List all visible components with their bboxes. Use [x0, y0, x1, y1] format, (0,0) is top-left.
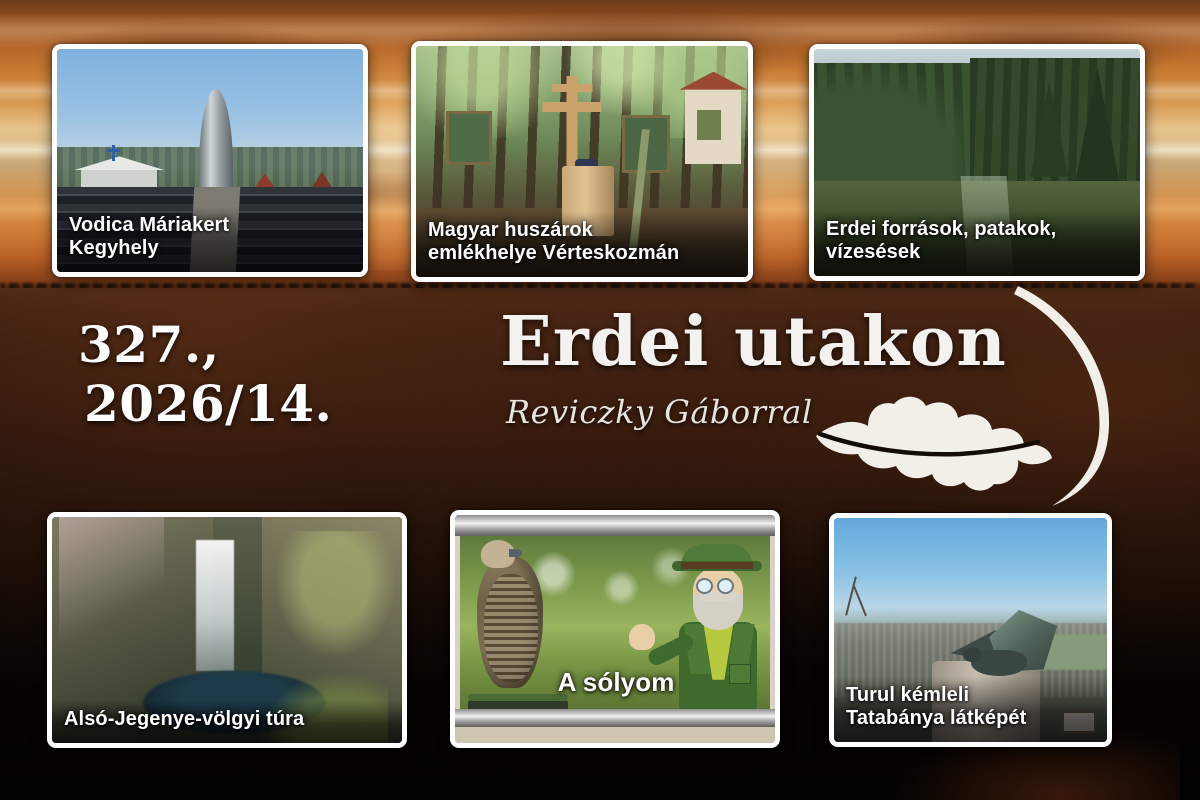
photo-tile-solyom[interactable]: A sólyom [450, 510, 780, 748]
program-subtitle: Reviczky Gáborral [506, 393, 813, 431]
photo-tile-forrasok[interactable]: Erdei források, patakok, vízesések [809, 44, 1145, 281]
photo-tile-huszarok[interactable]: Magyar huszárok emlékhelye Vérteskozmán [411, 41, 753, 282]
info-board-left [446, 111, 492, 165]
wooden-hut [685, 88, 741, 164]
hat-band [681, 562, 753, 569]
caption-line-1: Magyar huszárok [428, 219, 593, 241]
caption-line-2: Kegyhely [69, 237, 159, 259]
tile-caption-solyom: A sólyom [455, 659, 775, 743]
tile-inner: A sólyom [455, 515, 775, 743]
hand [629, 624, 655, 650]
program-logo: Erdei utakon Reviczky Gáborral [480, 296, 1120, 526]
tile-inner: Alsó-Jegenye-völgyi túra [52, 517, 402, 743]
bare-branch-1 [846, 577, 858, 616]
caption-line-1: Alsó-Jegenye-völgyi túra [64, 708, 304, 730]
waterfall [196, 540, 234, 671]
tile-caption-jegenye: Alsó-Jegenye-völgyi túra [52, 700, 402, 743]
bare-branch-2 [853, 586, 867, 616]
tile-inner: Erdei források, patakok, vízesések [814, 49, 1140, 276]
program-title: Erdei utakon [500, 302, 1007, 382]
caption-line-2: Tatabánya látképét [846, 707, 1026, 729]
caption-line-1: A sólyom [558, 667, 675, 697]
episode-line-1: 327., [78, 315, 408, 374]
caption-line-1: Turul kémleli [846, 684, 969, 706]
photo-tile-turul[interactable]: Turul kémleli Tatabánya látképét [829, 513, 1112, 747]
tile-inner: Magyar huszárok emlékhelye Vérteskozmán [416, 46, 748, 277]
bird-head [963, 648, 981, 662]
oak-leaf-icon [810, 392, 1070, 492]
broadcast-title-card: Vodica Máriakert Kegyhely Magyar huszáro… [0, 0, 1200, 800]
caption-line-2: emlékhelye Vérteskozmán [428, 242, 679, 264]
photo-tile-jegenye[interactable]: Alsó-Jegenye-völgyi túra [47, 512, 407, 748]
caption-line-1: Erdei források, patakok, [826, 218, 1056, 240]
mossy-rocks [276, 531, 395, 658]
tile-inner: Turul kémleli Tatabánya látképét [834, 518, 1107, 742]
lens-flare [59, 517, 164, 675]
screen-frame-top [455, 515, 775, 536]
episode-number: 327., 2026/14. [78, 315, 408, 433]
tile-caption-vodica: Vodica Máriakert Kegyhely [57, 206, 363, 272]
cross-icon [112, 145, 115, 161]
caption-line-1: Vodica Máriakert [69, 214, 229, 236]
photo-tile-vodica[interactable]: Vodica Máriakert Kegyhely [52, 44, 368, 277]
tile-inner: Vodica Máriakert Kegyhely [57, 49, 363, 272]
tile-caption-forrasok: Erdei források, patakok, vízesések [814, 210, 1140, 276]
tile-caption-huszarok: Magyar huszárok emlékhelye Vérteskozmán [416, 211, 748, 277]
caption-line-2: vízesések [826, 241, 920, 263]
turul-bird-statue [943, 610, 1061, 682]
episode-line-2: 2026/14. [78, 374, 408, 433]
tile-caption-turul: Turul kémleli Tatabánya látképét [834, 676, 1107, 742]
